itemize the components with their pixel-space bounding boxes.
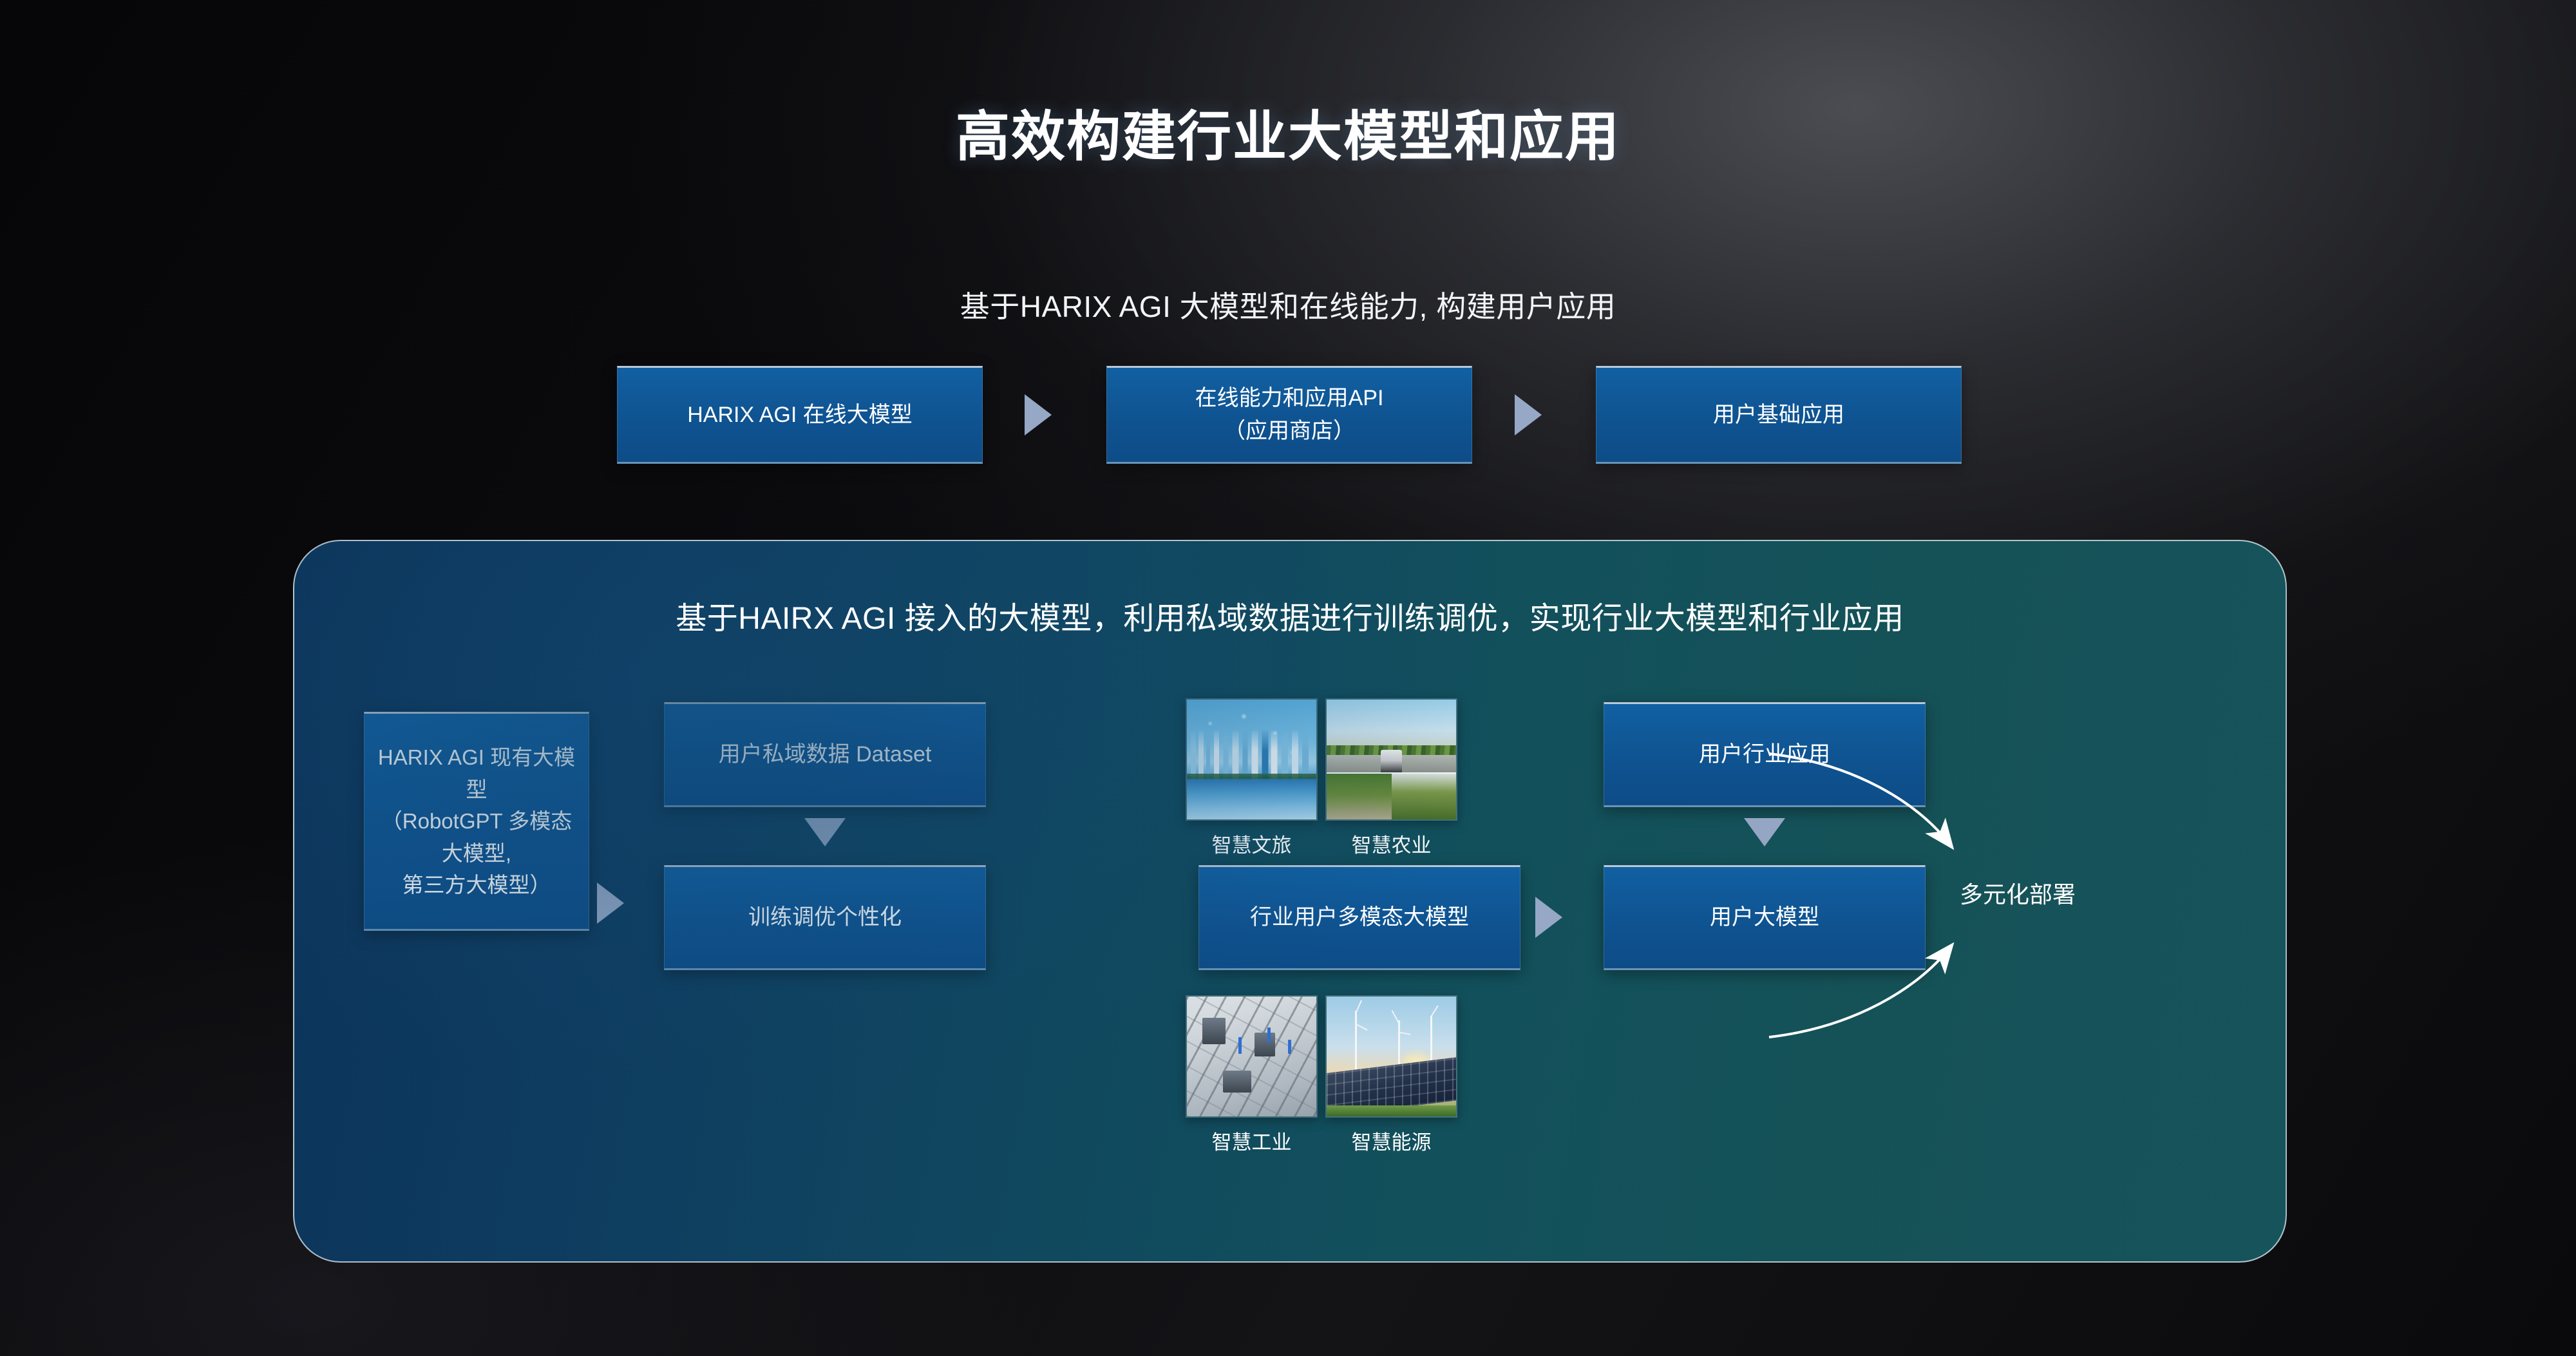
top-flow-box-api[interactable]: 在线能力和应用API （应用商店） [1106, 366, 1472, 464]
node-industry-model[interactable]: 行业用户多模态大模型 [1198, 865, 1520, 970]
wind-turbine-blade-2a [1391, 1010, 1399, 1024]
node-dataset[interactable]: 用户私域数据 Dataset [664, 702, 986, 807]
smart-agriculture-image [1327, 700, 1456, 819]
agri-inset-right [1392, 772, 1457, 819]
agri-robot-shape [1381, 750, 1401, 774]
machine-indicator-3 [1288, 1040, 1291, 1054]
thumbnail-label-smart-industry: 智慧工业 [1186, 1126, 1318, 1155]
thumbnail-smart-energy [1325, 995, 1457, 1118]
machine-shape-2 [1255, 1033, 1275, 1056]
flow-arrow-icon-4 [804, 818, 846, 846]
thumbnail-label-smart-agriculture: 智慧农业 [1325, 829, 1457, 858]
top-flow-box-user-app[interactable]: 用户基础应用 [1596, 366, 1962, 464]
grass-strip-shape [1327, 1105, 1456, 1116]
node-dataset-label: 用户私域数据 Dataset [719, 738, 932, 771]
node-source-model-line2: （RobotGPT 多模态大模型, [374, 805, 580, 869]
wind-turbine-blade-3a [1430, 1006, 1439, 1017]
node-finetune-label: 训练调优个性化 [748, 901, 902, 934]
node-industry-model-label: 行业用户多模态大模型 [1250, 901, 1469, 934]
top-flow-box-api-label-line1: 在线能力和应用API [1195, 382, 1384, 415]
wind-turbine-blade-1b [1356, 1024, 1368, 1031]
thumbnail-label-smart-tourism: 智慧文旅 [1186, 829, 1318, 858]
node-source-model-line1: HARIX AGI 现有大模型 [374, 741, 580, 805]
thumbnail-smart-industry [1186, 995, 1318, 1118]
machine-shape-3 [1223, 1071, 1251, 1092]
node-user-model-label: 用户大模型 [1710, 901, 1819, 934]
flow-arrow-icon-6 [1744, 818, 1785, 846]
node-source-model-line3: 第三方大模型） [402, 869, 551, 901]
wind-turbine-blade-2b [1398, 1032, 1410, 1035]
water-shape [1187, 779, 1316, 819]
machine-shape-1 [1202, 1018, 1226, 1044]
top-flow-box-user-app-label: 用户基础应用 [1713, 399, 1844, 432]
industry-model-panel: 基于HAIRX AGI 接入的大模型，利用私域数据进行训练调优，实现行业大模型和… [293, 540, 2287, 1263]
agri-inset-left [1327, 772, 1393, 819]
factory-lines-shape [1187, 997, 1316, 1116]
flow-arrow-icon-2 [1515, 394, 1542, 435]
top-flow-box-online-model-label: HARIX AGI 在线大模型 [687, 399, 913, 432]
thumbnail-smart-agriculture [1325, 698, 1457, 821]
top-flow-box-online-model[interactable]: HARIX AGI 在线大模型 [617, 366, 983, 464]
machine-indicator-2 [1267, 1027, 1271, 1043]
smart-energy-image [1327, 997, 1456, 1116]
wind-turbine-blade-1a [1355, 1000, 1362, 1013]
flow-arrow-icon-3 [597, 883, 624, 924]
slide-canvas: 高效构建行业大模型和应用 基于HARIX AGI 大模型和在线能力, 构建用户应… [0, 0, 2576, 1356]
deploy-label: 多元化部署 [1960, 876, 2076, 910]
thumbnail-smart-tourism [1186, 698, 1318, 821]
node-user-model[interactable]: 用户大模型 [1604, 865, 1926, 970]
flow-arrow-icon-1 [1025, 394, 1052, 435]
thumbnail-label-smart-energy: 智慧能源 [1325, 1126, 1457, 1155]
node-source-model[interactable]: HARIX AGI 现有大模型 （RobotGPT 多模态大模型, 第三方大模型… [364, 712, 589, 931]
panel-title: 基于HAIRX AGI 接入的大模型，利用私域数据进行训练调优，实现行业大模型和… [294, 593, 2286, 638]
node-finetune[interactable]: 训练调优个性化 [664, 865, 986, 970]
page-title: 高效构建行业大模型和应用 [0, 110, 2576, 164]
top-flow-box-api-label-line2: （应用商店） [1224, 415, 1355, 448]
node-user-industry-app-label: 用户行业应用 [1699, 738, 1830, 771]
flow-arrow-icon-5 [1535, 897, 1562, 938]
node-user-industry-app[interactable]: 用户行业应用 [1604, 702, 1926, 807]
smart-tourism-image [1187, 700, 1316, 819]
smart-industry-image [1187, 997, 1316, 1116]
machine-indicator-1 [1238, 1037, 1242, 1054]
subtitle: 基于HARIX AGI 大模型和在线能力, 构建用户应用 [0, 283, 2576, 326]
